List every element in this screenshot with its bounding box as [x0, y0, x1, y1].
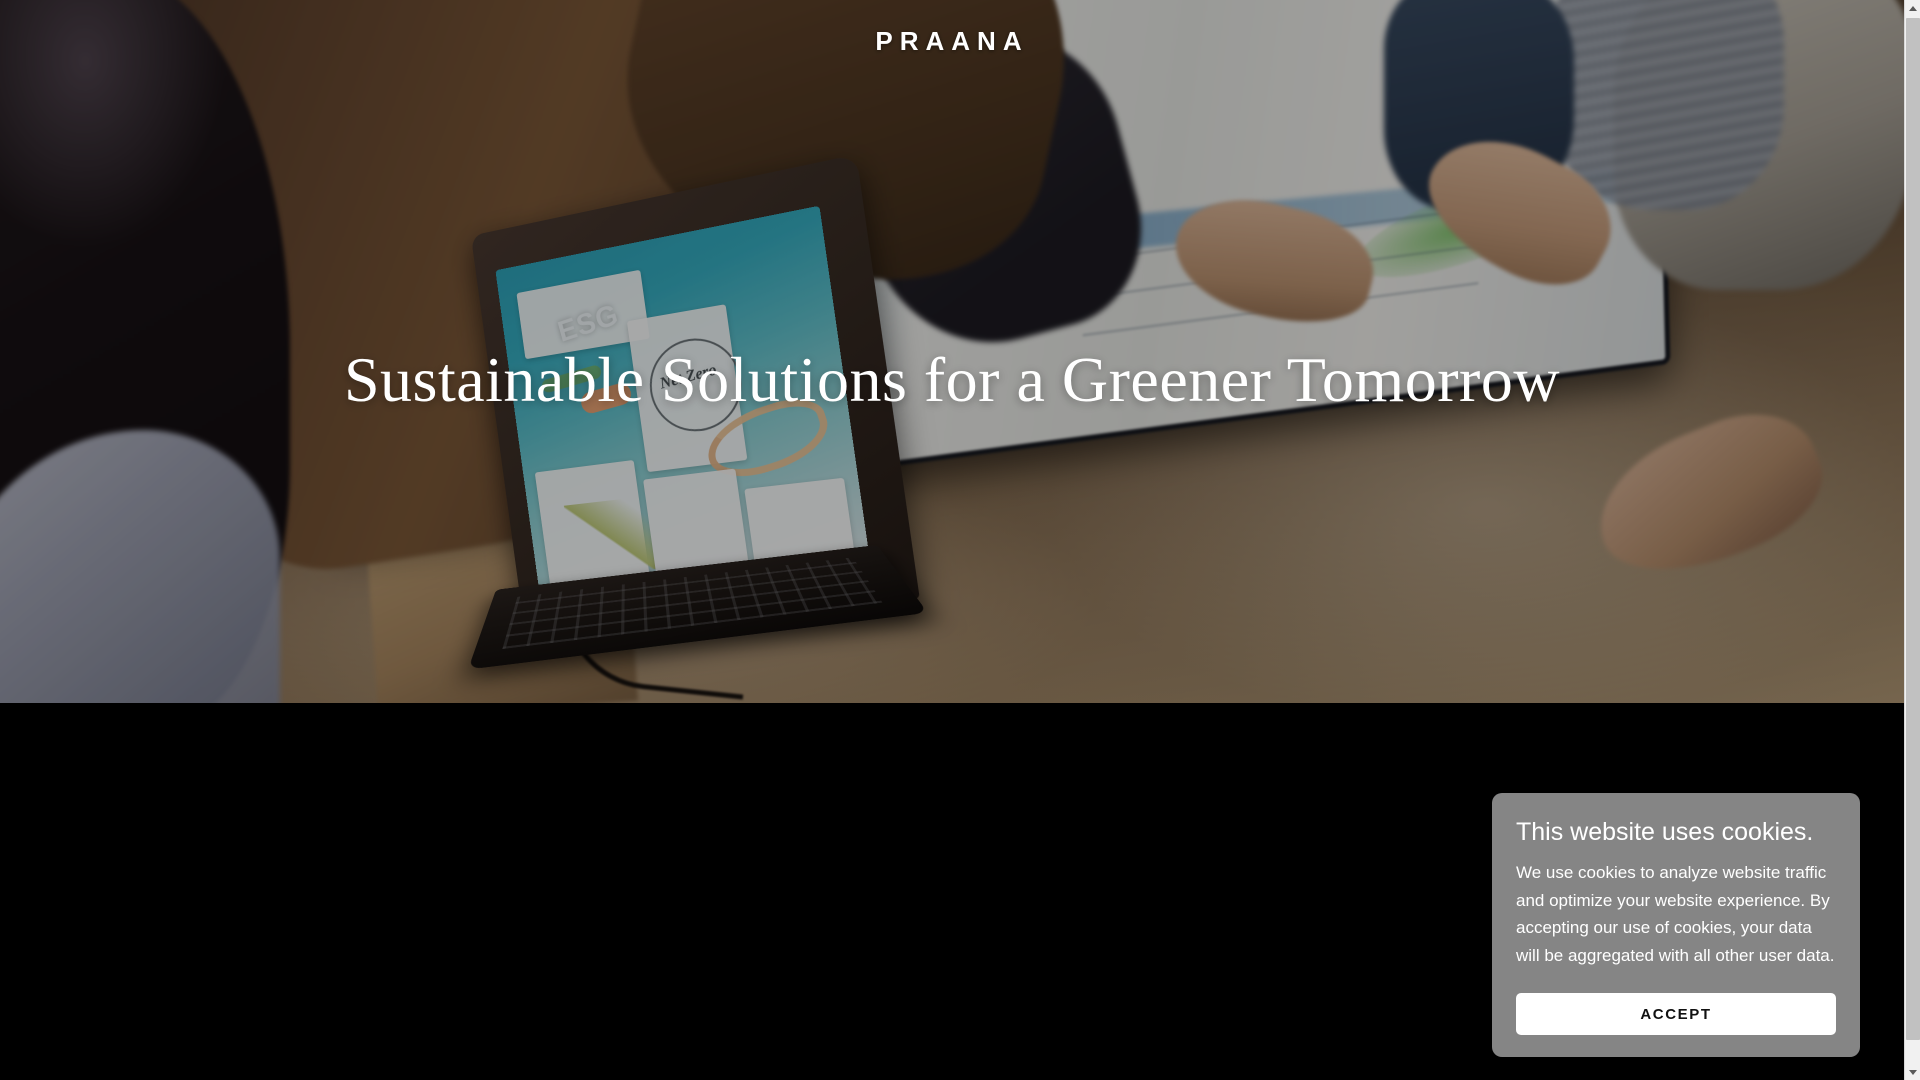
page-scrollbar[interactable] [1904, 0, 1920, 1080]
scroll-up-icon[interactable] [1905, 0, 1920, 16]
page-content: ESG Net Zero [0, 0, 1904, 1080]
cookie-accept-button[interactable]: ACCEPT [1516, 993, 1836, 1035]
scrollbar-thumb[interactable] [1906, 18, 1920, 1040]
scroll-down-icon[interactable] [1905, 1064, 1920, 1080]
browser-viewport: ESG Net Zero [0, 0, 1920, 1080]
hero-headline: Sustainable Solutions for a Greener Tomo… [0, 343, 1904, 417]
hero-section: ESG Net Zero [0, 0, 1904, 703]
site-logo[interactable]: PRAANA [0, 26, 1904, 57]
cookie-banner-title: This website uses cookies. [1516, 817, 1836, 847]
cookie-banner-body: We use cookies to analyze website traffi… [1516, 859, 1836, 969]
cookie-consent-banner: This website uses cookies. We use cookie… [1492, 793, 1860, 1057]
